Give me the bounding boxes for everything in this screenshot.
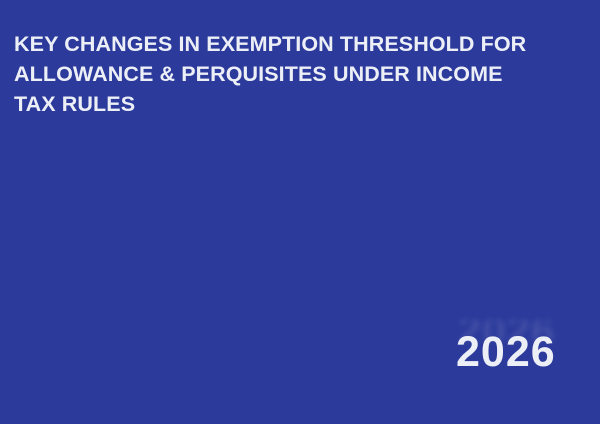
year-badge: 2026 2026 (452, 322, 572, 374)
title-line-2: ALLOWANCE & PERQUISITES UNDER INCOME (14, 59, 584, 89)
title-line-1: KEY CHANGES IN EXEMPTION THRESHOLD FOR (14, 29, 584, 59)
title-line-3: TAX RULES (14, 89, 584, 119)
slide-canvas: KEY CHANGES IN EXEMPTION THRESHOLD FOR A… (0, 0, 600, 424)
page-title: KEY CHANGES IN EXEMPTION THRESHOLD FOR A… (14, 29, 584, 119)
year-label: 2026 (456, 330, 556, 374)
